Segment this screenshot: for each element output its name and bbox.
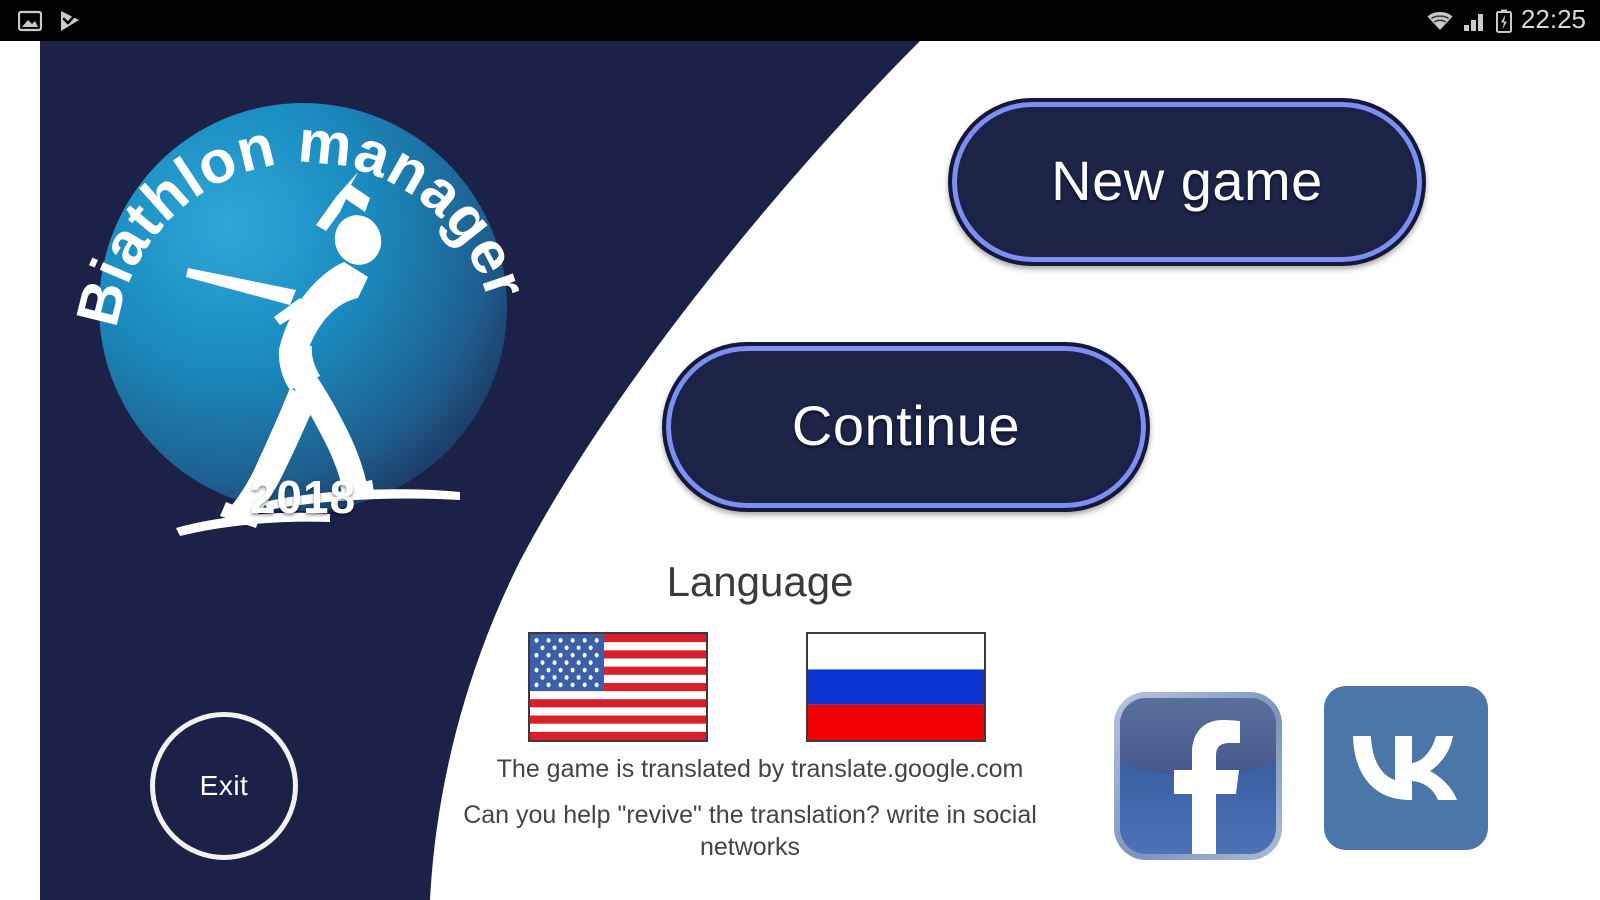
vk-icon	[1320, 682, 1492, 854]
vk-button[interactable]	[1320, 682, 1492, 854]
exit-button[interactable]: Exit	[150, 712, 298, 860]
translation-credit-line2: Can you help "revive" the translation? w…	[440, 800, 1060, 863]
wifi-icon	[1426, 10, 1454, 32]
new-game-button[interactable]: New game	[948, 98, 1426, 266]
logo-year: 2018	[68, 470, 538, 524]
us-flag-icon	[530, 634, 706, 740]
russia-flag-icon	[808, 634, 984, 740]
android-status-bar: 22:25	[0, 0, 1600, 41]
cellular-signal-icon	[1463, 10, 1487, 32]
continue-button-label: Continue	[792, 393, 1020, 458]
exit-button-label: Exit	[200, 770, 249, 802]
translation-credit-line1: The game is translated by translate.goog…	[440, 754, 1080, 786]
status-bar-clock: 22:25	[1521, 4, 1586, 35]
language-option-ru[interactable]	[806, 632, 986, 742]
app-screen: Biathlon manager	[0, 0, 1600, 900]
status-bar-left-icons	[18, 0, 82, 41]
screenshot-image-icon	[18, 10, 42, 32]
facebook-icon	[1112, 690, 1284, 862]
language-option-en[interactable]	[528, 632, 708, 742]
battery-charging-icon	[1496, 9, 1512, 33]
new-game-button-label: New game	[1051, 148, 1323, 213]
facebook-button[interactable]	[1112, 690, 1284, 862]
language-section-label: Language	[470, 558, 1050, 606]
continue-button[interactable]: Continue	[662, 342, 1150, 512]
status-bar-right-icons: 22:25	[1426, 0, 1586, 41]
flag-check-icon	[58, 9, 82, 33]
